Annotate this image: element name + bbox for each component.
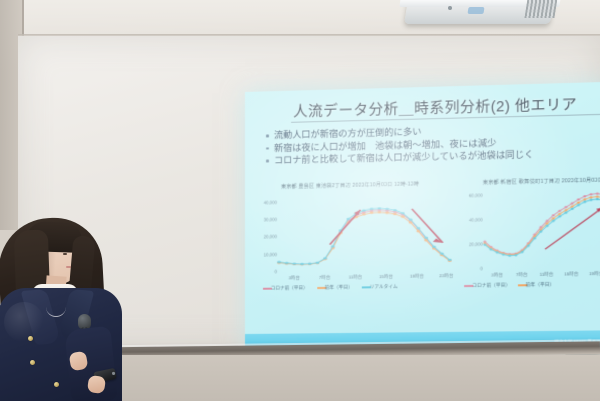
chart-series-svg [485,186,600,268]
chart-shinjuku: 東京都 新宿区 歌舞伎町1丁目辺 2023年10月03日 12時-13時 0 2… [460,176,600,322]
clicker-led-icon [112,372,115,375]
projected-slide: 人流データ分析＿時系列分析(2) 他エリア 流動人口が新宿の方が圧倒的に多い 新… [245,82,600,350]
y-axis-tick: 40,000 [469,217,483,222]
projector-lens [467,7,484,14]
legend-item: 前年（平日） [317,285,353,292]
x-axis-tick: 23時台 [439,273,453,279]
legend-label: 前年（平日） [325,285,353,291]
x-axis-tick: 19時台 [589,271,600,277]
chart-title: 東京都 豊島区 東池袋2丁目辺 2023年10月03日 12時-13時 [281,180,419,190]
x-axis-tick: 7時台 [516,272,528,278]
chart-plot-area: 0 10,000 20,000 30,000 40,000 [279,190,450,272]
y-axis-tick: 30,000 [264,217,277,222]
y-axis-tick: 40,000 [264,200,277,205]
presenter-shoulder-highlight [4,302,44,342]
chart-series-svg [279,190,450,272]
presenter [0,210,126,401]
chart-legend: コロナ前（平日） 前年（平日） リアルタイム [263,283,460,292]
legend-item: コロナ前（平日） [263,285,308,292]
y-axis-tick: 60,000 [469,193,483,198]
legend-label: リアルタイム [370,284,398,290]
jacket-button [54,382,59,387]
legend-label: コロナ前（平日） [271,285,308,292]
x-axis-tick: 11時台 [349,274,363,280]
x-axis-tick: 11時台 [540,272,554,278]
chart-plot-area: 0 20,000 40,000 60,000 3時台 7時台 11時台 1 [485,186,600,268]
y-axis-tick: 0 [480,266,483,271]
y-axis-tick: 20,000 [469,242,483,247]
chart-title: 東京都 新宿区 歌舞伎町1丁目辺 2023年10月03日 12時-13時 [483,176,600,186]
legend-label: 前年（平日） [526,282,555,289]
ceiling-projector [398,0,568,32]
chart-legend: コロナ前（平日） 前年（平日） [464,281,600,289]
x-axis-tick: 7時台 [319,275,330,281]
projector-vent-grill [524,0,557,18]
legend-item: コロナ前（平日） [464,282,510,289]
presenter-eye [63,253,67,255]
x-axis-tick: 3時台 [289,275,300,281]
slide-charts: 東京都 豊島区 東池袋2丁目辺 2023年10月03日 12時-13時 0 10… [245,176,600,324]
x-axis-tick: 19時台 [410,273,424,279]
x-axis-tick: 15時台 [379,274,393,280]
x-axis-tick: 3時台 [491,272,503,278]
y-axis-tick: 0 [275,269,277,274]
legend-label: コロナ前（平日） [472,282,510,289]
y-axis-tick: 10,000 [264,252,277,257]
y-axis-tick: 20,000 [264,234,277,239]
x-axis-tick: 15時台 [564,271,578,277]
jacket-button [30,360,35,365]
legend-item: 前年（平日） [518,282,555,289]
legend-item: リアルタイム [362,284,398,291]
projector-indicator-icon [448,6,452,10]
chart-ikebukuro: 東京都 豊島区 東池袋2丁目辺 2023年10月03日 12時-13時 0 10… [255,180,452,324]
slide-bullet-list: 流動人口が新宿の方が圧倒的に多い 新宿は夜に人口が増加 池袋は朝〜増加、夜には減… [265,121,600,168]
screenshot-scene: 人流データ分析＿時系列分析(2) 他エリア 流動人口が新宿の方が圧倒的に多い 新… [0,0,600,401]
